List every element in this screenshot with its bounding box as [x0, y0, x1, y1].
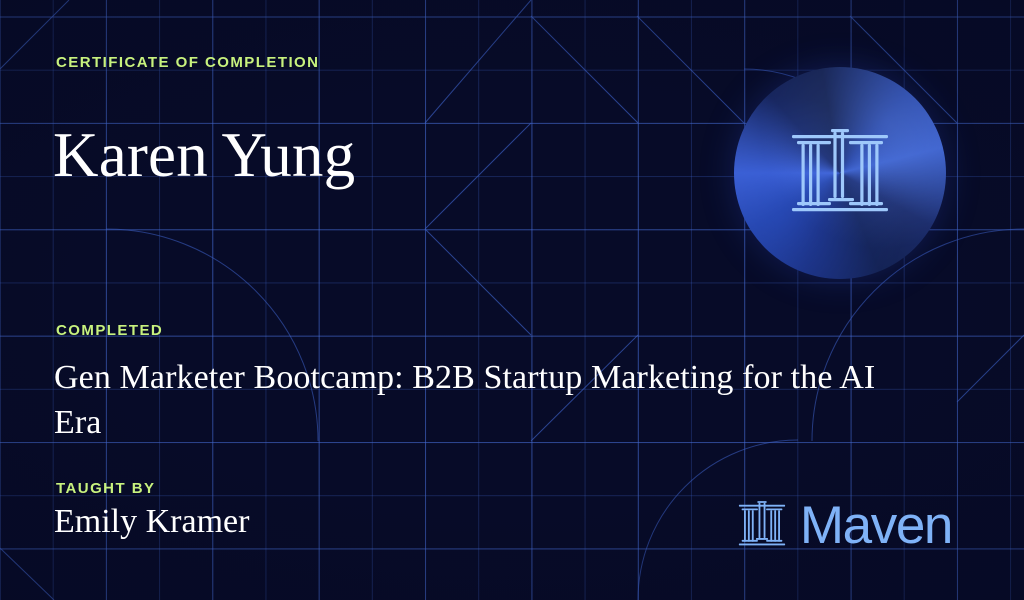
diagonal-line-right-b [957, 335, 1024, 402]
instructor-name: Emily Kramer [54, 500, 249, 544]
certificate-kicker: CERTIFICATE OF COMPLETION [56, 54, 319, 71]
course-title: Gen Marketer Bootcamp: B2B Startup Marke… [54, 355, 920, 445]
recipient-name: Karen Yung [53, 122, 355, 188]
certificate-canvas: CERTIFICATE OF COMPLETION Karen Yung COM… [0, 0, 1024, 600]
maven-pillar-icon [738, 500, 786, 552]
diagonal-line-bottomleft [0, 548, 54, 600]
maven-brand-lockup: Maven [738, 499, 952, 552]
maven-wordmark: Maven [800, 499, 952, 552]
completed-label: COMPLETED [56, 322, 163, 339]
taught-by-label: TAUGHT BY [56, 480, 155, 497]
